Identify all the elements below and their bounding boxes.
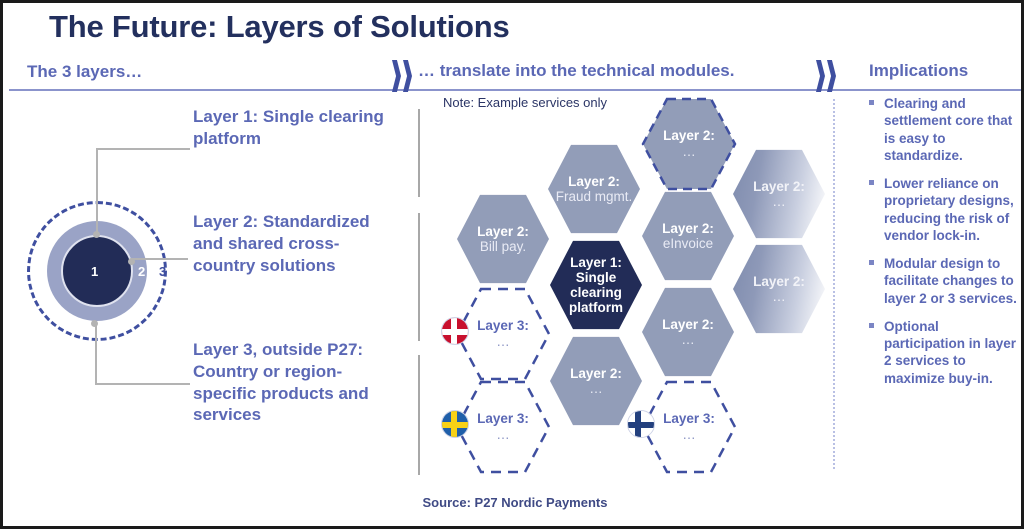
hex-line2: Single clearing platform [550, 270, 642, 315]
hex-line2: … [772, 289, 786, 304]
page-title: The Future: Layers of Solutions [49, 9, 510, 45]
ring-label-3: 3 [159, 264, 166, 279]
hex-line2: … [682, 427, 696, 443]
denmark-flag-icon [441, 317, 469, 345]
implication-bullet: Optional participation in layer 2 servic… [869, 318, 1017, 387]
hex-line1: Layer 2: [753, 179, 805, 194]
hex-layer2-right[interactable]: Layer 2: … [642, 286, 734, 378]
vertical-divider-3 [418, 355, 420, 475]
hexagon-cluster: Layer 2: … Layer 2: … Layer 2: … Layer 2… [433, 93, 833, 478]
dotted-divider [833, 99, 835, 469]
hex-layer2-fade-2[interactable]: Layer 2: … [733, 243, 825, 335]
sweden-flag-icon [441, 410, 469, 438]
implication-bullet: Modular design to facilitate changes to … [869, 255, 1017, 307]
hex-einvoice[interactable]: Layer 2: eInvoice [642, 190, 734, 282]
hex-line2: … [496, 427, 510, 443]
hex-line2: … [682, 144, 696, 160]
hex-line2: … [589, 381, 603, 396]
vertical-divider-2 [418, 213, 420, 341]
chevron-right-icon-right [816, 60, 842, 92]
bullet-square-icon [869, 100, 874, 105]
ring-label-2: 2 [138, 264, 145, 279]
bullet-square-icon [869, 260, 874, 265]
hex-layer2-fade-1[interactable]: Layer 2: … [733, 148, 825, 240]
hex-line2: … [681, 332, 695, 347]
implications-list: Clearing and settlement core that is eas… [869, 95, 1017, 398]
header-divider [9, 89, 1021, 91]
hex-line1: Layer 3: [477, 411, 529, 427]
layer-3-label: Layer 3, outside P27: Country or region-… [193, 339, 393, 426]
implication-bullet: Clearing and settlement core that is eas… [869, 95, 1017, 164]
hex-line2: Bill pay. [480, 239, 526, 254]
vertical-divider-1 [418, 109, 420, 197]
hex-line2: eInvoice [663, 236, 713, 251]
hex-line1: Layer 2: [662, 317, 714, 332]
hex-line2: … [496, 334, 510, 350]
connector-line-2 [131, 258, 188, 262]
hex-line1: Layer 2: [570, 366, 622, 381]
hex-layer2-top[interactable]: Layer 2: … [641, 96, 737, 192]
ring-label-1: 1 [91, 264, 98, 279]
bullet-square-icon [869, 323, 874, 328]
slide-canvas: The Future: Layers of Solutions The 3 la… [0, 0, 1024, 529]
layer-1-label: Layer 1: Single clearing platform [193, 106, 393, 150]
hex-line2: Fraud mgmt. [556, 189, 633, 204]
layer-2-label: Layer 2: Standardized and shared cross-c… [193, 211, 393, 276]
implication-text: Clearing and settlement core that is eas… [884, 96, 1012, 163]
hex-line1: Layer 2: [663, 128, 715, 144]
section-header-right: Implications [869, 61, 968, 81]
connector-line-3 [95, 323, 190, 385]
implication-text: Modular design to facilitate changes to … [884, 256, 1017, 306]
chevron-right-icon-left [392, 60, 418, 92]
finland-flag-icon [627, 410, 655, 438]
connector-line-1 [96, 148, 190, 234]
hex-line1: Layer 2: [477, 224, 529, 239]
implication-text: Optional participation in layer 2 servic… [884, 319, 1016, 386]
hex-line1: Layer 3: [663, 411, 715, 427]
hex-line1: Layer 2: [568, 174, 620, 189]
source-caption: Source: P27 Nordic Payments [3, 495, 1024, 510]
hex-line1: Layer 1: [570, 255, 622, 270]
hex-bill-pay[interactable]: Layer 2: Bill pay. [457, 193, 549, 285]
hex-layer3-sweden[interactable]: Layer 3: … [455, 379, 551, 475]
hex-line1: Layer 3: [477, 318, 529, 334]
section-header-middle: … translate into the technical modules. [418, 61, 734, 81]
hex-layer3-denmark[interactable]: Layer 3: … [455, 286, 551, 382]
implication-bullet: Lower reliance on proprietary designs, r… [869, 175, 1017, 244]
hex-fraud-mgmt[interactable]: Layer 2: Fraud mgmt. [548, 143, 640, 235]
section-header-left: The 3 layers… [27, 62, 142, 82]
bullet-square-icon [869, 180, 874, 185]
hex-layer2-bottom[interactable]: Layer 2: … [550, 335, 642, 427]
hex-line1: Layer 2: [753, 274, 805, 289]
hex-line2: … [772, 194, 786, 209]
hex-layer3-finland[interactable]: Layer 3: … [641, 379, 737, 475]
hex-core-layer1[interactable]: Layer 1: Single clearing platform [550, 239, 642, 331]
implication-text: Lower reliance on proprietary designs, r… [884, 176, 1014, 243]
hex-line1: Layer 2: [662, 221, 714, 236]
